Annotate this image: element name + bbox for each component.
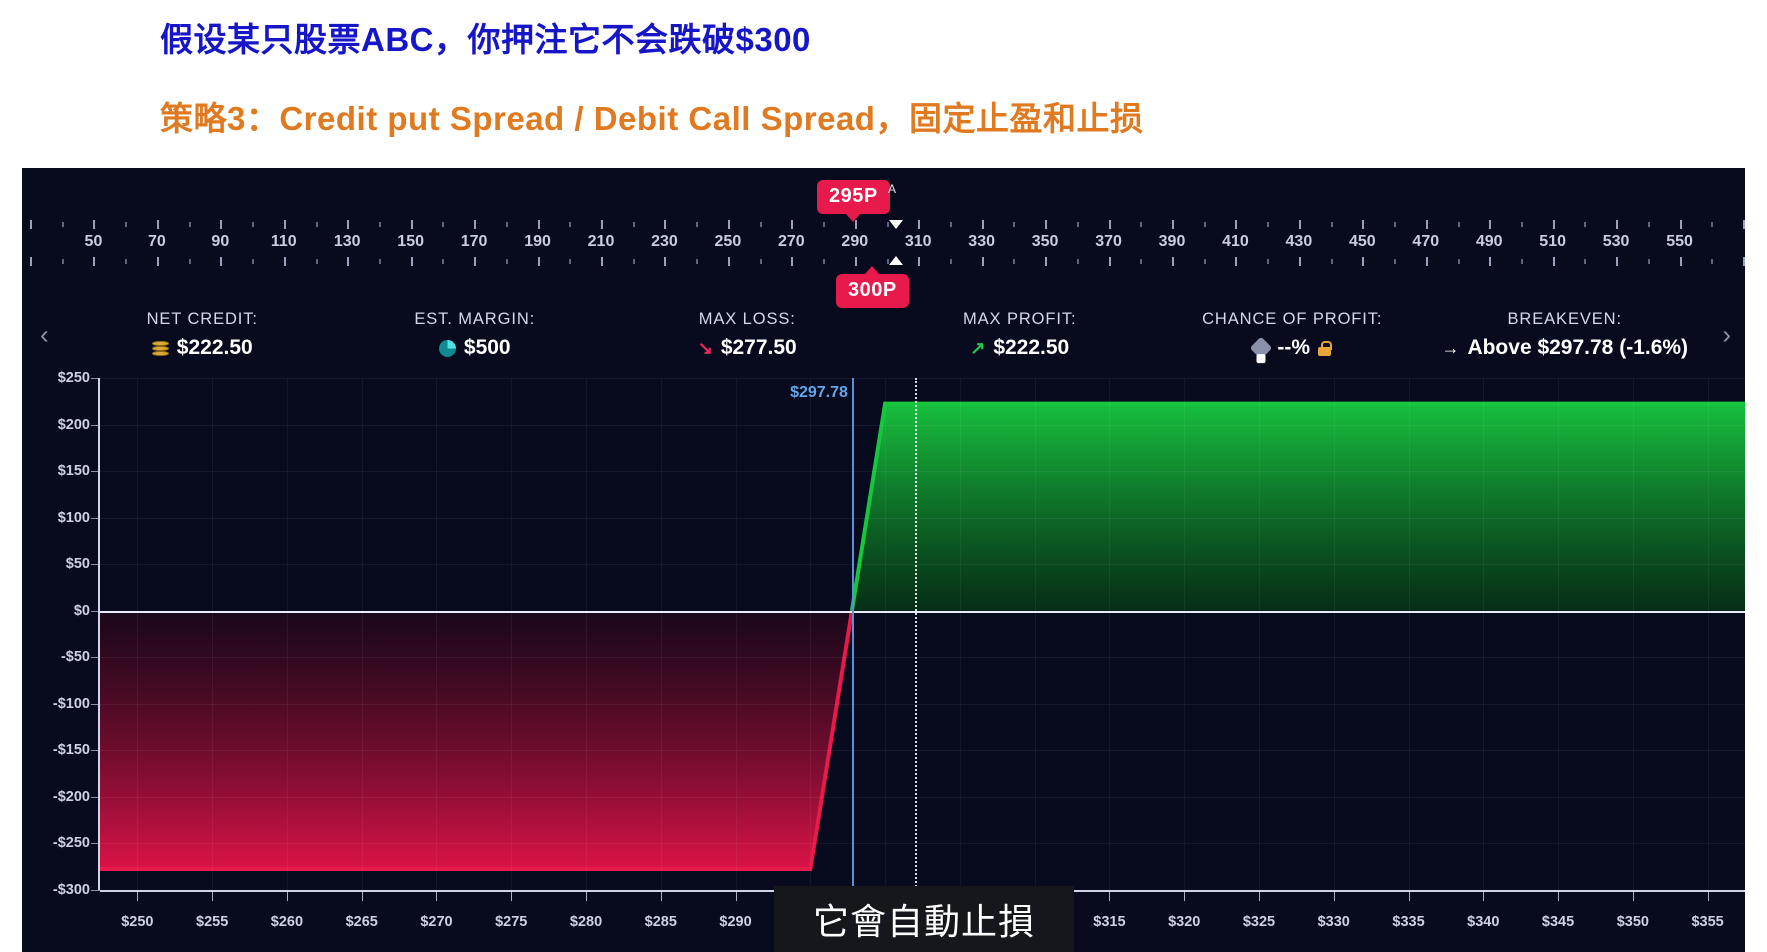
ruler-tick	[93, 220, 95, 229]
x-axis-label: $280	[570, 914, 602, 930]
stat-est-margin-label: EST. MARGIN:	[339, 310, 612, 329]
y-axis-label: -$50	[61, 649, 90, 665]
ruler-label: 410	[1222, 233, 1249, 251]
x-axis-tick	[1409, 892, 1410, 901]
ruler-label: 390	[1159, 233, 1186, 251]
ruler-tick	[1426, 257, 1428, 266]
y-axis-label: $250	[58, 370, 90, 386]
ruler-tick	[1013, 222, 1015, 227]
vertical-gridline	[1483, 378, 1484, 890]
horizontal-gridline	[100, 750, 1745, 751]
horizontal-gridline	[100, 704, 1745, 705]
horizontal-gridline	[100, 518, 1745, 519]
vertical-gridline	[885, 378, 886, 890]
x-axis-tick	[1483, 892, 1484, 901]
ruler-tick	[1553, 257, 1555, 266]
ruler-tick	[633, 222, 635, 227]
ruler-tick	[1235, 220, 1237, 229]
ruler-tick	[1013, 259, 1015, 264]
ruler-tick	[918, 257, 920, 266]
ruler-tick	[760, 259, 762, 264]
pie-chart-icon	[439, 340, 456, 357]
y-axis-label: $200	[58, 417, 90, 433]
y-axis-label: $150	[58, 463, 90, 479]
ruler-tick	[189, 222, 191, 227]
ruler-tick	[1711, 259, 1713, 264]
x-axis-tick	[212, 892, 213, 901]
strike-marker-down-icon[interactable]	[889, 220, 903, 229]
ruler-label: 550	[1666, 233, 1693, 251]
strike-ruler[interactable]: 295P A 300P 5070901101301501701902102302…	[22, 168, 1745, 292]
stat-breakeven: BREAKEVEN: → Above $297.78 (-1.6%)	[1429, 310, 1702, 360]
ruler-tick	[538, 257, 540, 266]
ruler-tick	[220, 257, 222, 266]
ruler-tick	[284, 220, 286, 229]
ruler-tick	[1045, 220, 1047, 229]
x-axis-tick	[1334, 892, 1335, 901]
ruler-tick	[1616, 220, 1618, 229]
x-axis-tick	[1259, 892, 1260, 901]
zero-profit-line	[100, 611, 1745, 613]
ruler-tick	[347, 257, 349, 266]
ruler-tick	[1584, 259, 1586, 264]
vertical-gridline	[362, 378, 363, 890]
ruler-tick	[1172, 220, 1174, 229]
x-axis-tick	[1558, 892, 1559, 901]
current-price-line[interactable]	[915, 378, 917, 890]
x-axis-label: $350	[1617, 914, 1649, 930]
ruler-tick	[1045, 257, 1047, 266]
slide-title-line-2: 策略3：Credit put Spread / Debit Call Sprea…	[160, 93, 1767, 144]
ruler-tick	[1204, 259, 1206, 264]
ruler-tick	[1077, 222, 1079, 227]
x-axis-label: $255	[196, 914, 228, 930]
ruler-label: 430	[1286, 233, 1313, 251]
ruler-tick	[1743, 257, 1745, 266]
ruler-tick	[1140, 259, 1142, 264]
ruler-tick	[696, 222, 698, 227]
ruler-tick	[1362, 257, 1364, 266]
breakeven-price-label: $297.78	[790, 384, 848, 402]
vertical-gridline	[661, 378, 662, 890]
horizontal-gridline	[100, 471, 1745, 472]
vertical-gridline	[1184, 378, 1185, 890]
ruler-tick	[1267, 222, 1269, 227]
ruler-tick	[1648, 259, 1650, 264]
vertical-gridline	[137, 378, 138, 890]
ruler-tick	[30, 220, 32, 229]
ruler-tick	[1648, 222, 1650, 227]
ruler-tick	[1331, 222, 1333, 227]
x-axis-label: $335	[1392, 914, 1424, 930]
horizontal-gridline	[100, 657, 1745, 658]
strike-badge-295p[interactable]: 295P	[817, 180, 890, 214]
ruler-tick	[855, 257, 857, 266]
ruler-label: 470	[1412, 233, 1439, 251]
horizontal-gridline	[100, 564, 1745, 565]
vertical-gridline	[1035, 378, 1036, 890]
ruler-label: 330	[968, 233, 995, 251]
vertical-gridline	[1633, 378, 1634, 890]
ruler-tick	[1680, 257, 1682, 266]
ruler-tick	[823, 222, 825, 227]
ruler-tick	[252, 222, 254, 227]
ruler-label: 230	[651, 233, 678, 251]
ruler-tick	[1616, 257, 1618, 266]
ruler-tick	[728, 220, 730, 229]
stat-est-margin-value: $500	[464, 336, 511, 360]
stat-max-profit-label: MAX PROFIT:	[884, 310, 1157, 329]
ruler-label: 490	[1476, 233, 1503, 251]
ruler-tick	[252, 259, 254, 264]
plot-area[interactable]: $297.78	[100, 378, 1745, 890]
stat-max-loss-value: $277.50	[721, 336, 797, 360]
ruler-tick	[1235, 257, 1237, 266]
ruler-tick	[1680, 220, 1682, 229]
x-axis-tick	[511, 892, 512, 901]
vertical-gridline	[586, 378, 587, 890]
stat-chance-of-profit: CHANCE OF PROFIT: --%	[1156, 310, 1429, 360]
ruler-tick	[442, 259, 444, 264]
ruler-label: 90	[211, 233, 229, 251]
ruler-number-row: 5070901101301501701902102302502702903103…	[22, 233, 1745, 255]
ruler-tick	[1584, 222, 1586, 227]
ruler-label: 50	[85, 233, 103, 251]
ruler-tick	[1521, 222, 1523, 227]
ruler-label: 170	[461, 233, 488, 251]
x-axis-tick	[736, 892, 737, 901]
ruler-label: 350	[1032, 233, 1059, 251]
ruler-label: 450	[1349, 233, 1376, 251]
x-axis-label: $275	[495, 914, 527, 930]
pnl-curve-svg	[100, 378, 1745, 890]
x-axis-label: $355	[1691, 914, 1723, 930]
horizontal-gridline	[100, 797, 1745, 798]
ruler-label: 370	[1095, 233, 1122, 251]
x-axis-tick	[287, 892, 288, 901]
ruler-tick	[633, 259, 635, 264]
ruler-tick	[1394, 259, 1396, 264]
dice-icon	[1250, 337, 1273, 360]
ruler-tick	[950, 222, 952, 227]
ruler-tick	[823, 259, 825, 264]
ruler-tick	[442, 222, 444, 227]
ruler-tick	[157, 257, 159, 266]
x-axis-label: $290	[719, 914, 751, 930]
ruler-tick	[1394, 222, 1396, 227]
ruler-tick	[760, 222, 762, 227]
ruler-tick	[62, 259, 64, 264]
ruler-tick	[1362, 220, 1364, 229]
arrow-up-right-icon: ↗	[970, 339, 985, 357]
x-axis-label: $315	[1093, 914, 1125, 930]
ruler-tick	[982, 220, 984, 229]
ruler-tick	[474, 257, 476, 266]
stats-next-arrow-icon[interactable]: ›	[1722, 320, 1731, 351]
stat-chance-of-profit-value: --%	[1277, 336, 1310, 360]
ruler-tick	[1521, 259, 1523, 264]
ruler-tick	[1743, 220, 1745, 229]
stat-net-credit: NET CREDIT: $222.50	[66, 310, 339, 360]
y-axis-label: -$100	[53, 696, 90, 712]
vertical-gridline	[736, 378, 737, 890]
x-axis-tick	[661, 892, 662, 901]
x-axis-label: $285	[645, 914, 677, 930]
ruler-tick	[982, 257, 984, 266]
ruler-tick	[411, 220, 413, 229]
stat-max-loss-value-row: ↘ $277.50	[611, 336, 884, 360]
ruler-tick	[791, 220, 793, 229]
stat-est-margin: EST. MARGIN: $500	[339, 310, 612, 360]
ruler-tick	[379, 259, 381, 264]
ruler-tick	[1077, 259, 1079, 264]
ruler-tick	[569, 222, 571, 227]
ruler-tick	[601, 257, 603, 266]
ruler-tick	[1267, 259, 1269, 264]
ruler-tick	[855, 220, 857, 229]
vertical-gridline	[287, 378, 288, 890]
ruler-tick	[728, 257, 730, 266]
ruler-tick	[316, 222, 318, 227]
ruler-label: 70	[148, 233, 166, 251]
ruler-tick	[30, 257, 32, 266]
ruler-label: 210	[588, 233, 615, 251]
ruler-tick	[220, 220, 222, 229]
arrow-right-icon: →	[1441, 338, 1459, 359]
ruler-tick	[1109, 257, 1111, 266]
ruler-tick	[1204, 222, 1206, 227]
x-axis-tick	[586, 892, 587, 901]
ruler-tick	[284, 257, 286, 266]
ruler-tick	[411, 257, 413, 266]
ruler-tick	[1426, 220, 1428, 229]
pnl-chart[interactable]: $250$200$150$100$50$0-$50-$100-$150-$200…	[22, 378, 1745, 948]
x-axis-label: $260	[271, 914, 303, 930]
lock-icon[interactable]	[1318, 341, 1331, 356]
stat-breakeven-value: Above $297.78 (-1.6%)	[1467, 336, 1688, 360]
ruler-label: 250	[715, 233, 742, 251]
ruler-tick	[347, 220, 349, 229]
vertical-gridline	[1409, 378, 1410, 890]
ruler-label: 110	[271, 233, 297, 251]
ruler-tick	[1489, 257, 1491, 266]
coins-icon	[152, 340, 169, 357]
x-axis-label: $270	[420, 914, 452, 930]
x-axis-label: $340	[1467, 914, 1499, 930]
ruler-tick	[1458, 222, 1460, 227]
vertical-gridline	[810, 378, 811, 890]
y-axis-label: $50	[66, 556, 90, 572]
ruler-ticks-top	[22, 220, 1745, 229]
x-axis-tick	[1109, 892, 1110, 901]
vertical-gridline	[511, 378, 512, 890]
profit-area	[852, 404, 1745, 611]
stat-breakeven-value-row: → Above $297.78 (-1.6%)	[1429, 336, 1702, 360]
vertical-gridline	[1558, 378, 1559, 890]
stat-chance-of-profit-value-row: --%	[1156, 336, 1429, 360]
ruler-label: 130	[334, 233, 361, 251]
ruler-tick	[379, 222, 381, 227]
ruler-label: 310	[905, 233, 932, 251]
x-axis-tick	[1184, 892, 1185, 901]
ruler-tick	[601, 220, 603, 229]
horizontal-gridline	[100, 378, 1745, 379]
breakeven-line[interactable]	[852, 378, 854, 890]
stat-net-credit-value-row: $222.50	[66, 336, 339, 360]
ruler-label: 530	[1603, 233, 1630, 251]
ruler-tick	[93, 257, 95, 266]
ruler-ticks-bottom	[22, 257, 1745, 266]
ruler-tick	[696, 259, 698, 264]
ruler-label: 270	[778, 233, 805, 251]
ruler-tick	[918, 220, 920, 229]
stats-prev-arrow-icon[interactable]: ‹	[40, 320, 49, 351]
ruler-label: 190	[524, 233, 551, 251]
ruler-tick	[62, 222, 64, 227]
ruler-label: 510	[1539, 233, 1566, 251]
ruler-tick	[474, 220, 476, 229]
ruler-label: 290	[841, 233, 868, 251]
ruler-tick	[950, 259, 952, 264]
y-axis-label: $0	[74, 603, 90, 619]
ruler-tick	[1711, 222, 1713, 227]
options-strategy-panel: 295P A 300P 5070901101301501701902102302…	[22, 168, 1745, 952]
x-axis-label: $250	[121, 914, 153, 930]
y-axis: $250$200$150$100$50$0-$50-$100-$150-$200…	[22, 378, 100, 948]
vertical-gridline	[1109, 378, 1110, 890]
x-axis-label: $330	[1318, 914, 1350, 930]
stat-max-loss-label: MAX LOSS:	[611, 310, 884, 329]
vertical-gridline	[1259, 378, 1260, 890]
x-axis-label: $325	[1243, 914, 1275, 930]
arrow-down-right-icon: ↘	[698, 339, 713, 357]
vertical-gridline	[212, 378, 213, 890]
y-axis-label: -$200	[53, 789, 90, 805]
ruler-tick	[189, 259, 191, 264]
stat-max-profit: MAX PROFIT: ↗ $222.50	[884, 310, 1157, 360]
ruler-tick	[157, 220, 159, 229]
video-subtitle-text: 它會自動止損	[813, 893, 1035, 945]
ruler-tick	[1299, 257, 1301, 266]
horizontal-gridline	[100, 843, 1745, 844]
stat-max-loss: MAX LOSS: ↘ $277.50	[611, 310, 884, 360]
ruler-tick	[1458, 259, 1460, 264]
ruler-tick	[1172, 257, 1174, 266]
x-axis-tick	[436, 892, 437, 901]
ruler-tick	[664, 220, 666, 229]
x-axis-label: $265	[346, 914, 378, 930]
ruler-tick	[1489, 220, 1491, 229]
strategy-stats-strip: ‹ NET CREDIT: $222.50 EST. MARGIN: $500 …	[22, 292, 1745, 378]
strike-badge-letter: A	[888, 182, 896, 196]
vertical-gridline	[960, 378, 961, 890]
ruler-tick	[316, 259, 318, 264]
ruler-tick	[569, 259, 571, 264]
slide-title-line-1: 假设某只股票ABC，你押注它不会跌破$300	[160, 14, 1767, 65]
y-axis-label: -$300	[53, 882, 90, 898]
x-axis-tick	[1633, 892, 1634, 901]
stat-net-credit-value: $222.50	[177, 336, 253, 360]
ruler-tick	[125, 259, 127, 264]
stat-net-credit-label: NET CREDIT:	[66, 310, 339, 329]
ruler-tick	[506, 222, 508, 227]
slide-title-block: 假设某只股票ABC，你押注它不会跌破$300 策略3：Credit put Sp…	[0, 0, 1767, 144]
ruler-tick	[538, 220, 540, 229]
ruler-tick	[1331, 259, 1333, 264]
y-axis-label: -$250	[53, 835, 90, 851]
stat-chance-of-profit-label: CHANCE OF PROFIT:	[1156, 310, 1429, 329]
x-axis-tick	[1708, 892, 1709, 901]
vertical-gridline	[1334, 378, 1335, 890]
ruler-label: 150	[397, 233, 424, 251]
x-axis-label: $320	[1168, 914, 1200, 930]
x-axis-tick	[362, 892, 363, 901]
vertical-gridline	[1708, 378, 1709, 890]
y-axis-label: -$150	[53, 742, 90, 758]
ruler-tick	[506, 259, 508, 264]
stat-breakeven-label: BREAKEVEN:	[1429, 310, 1702, 329]
y-axis-label: $100	[58, 510, 90, 526]
ruler-tick	[1109, 220, 1111, 229]
x-axis-tick	[137, 892, 138, 901]
stat-max-profit-value-row: ↗ $222.50	[884, 336, 1157, 360]
ruler-tick	[1553, 220, 1555, 229]
stat-est-margin-value-row: $500	[339, 336, 612, 360]
ruler-tick	[1140, 222, 1142, 227]
video-subtitle-bar: 它會自動止損	[774, 886, 1074, 952]
stat-max-profit-value: $222.50	[993, 336, 1069, 360]
horizontal-gridline	[100, 425, 1745, 426]
y-axis-tick	[91, 890, 100, 891]
strike-marker-up-icon[interactable]	[889, 256, 903, 265]
vertical-gridline	[436, 378, 437, 890]
ruler-tick	[664, 257, 666, 266]
ruler-tick	[791, 257, 793, 266]
x-axis-label: $345	[1542, 914, 1574, 930]
ruler-tick	[125, 222, 127, 227]
ruler-tick	[1299, 220, 1301, 229]
